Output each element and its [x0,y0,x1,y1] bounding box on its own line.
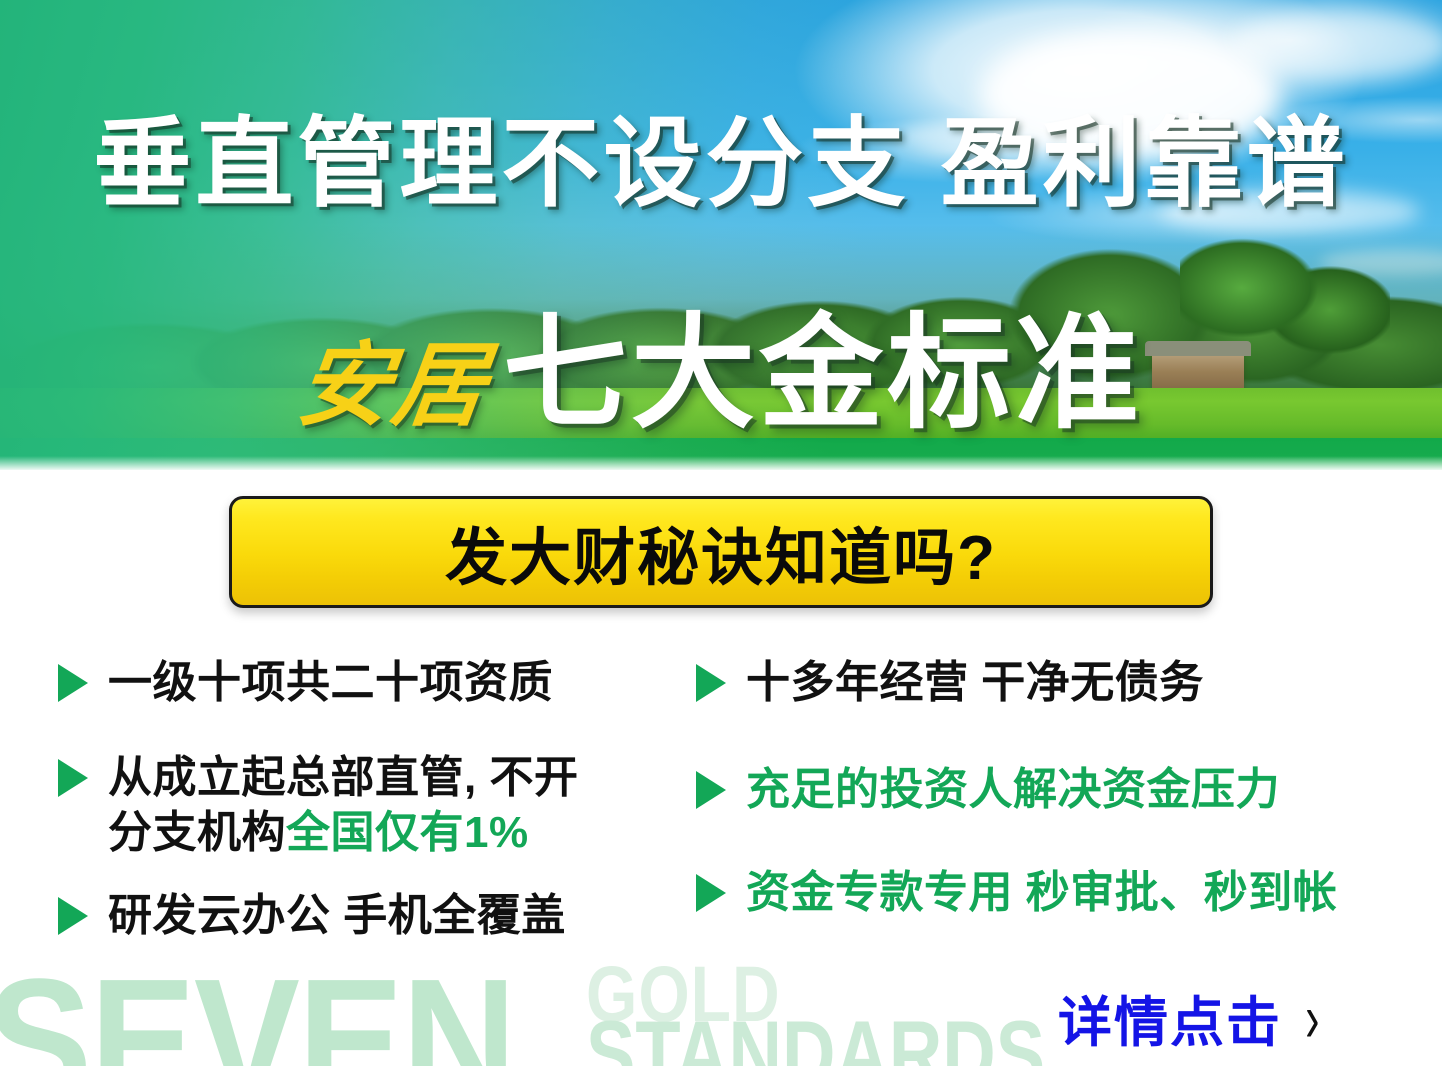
feature-text: 一级十项共二十项资质 [108,655,553,710]
triangle-bullet-icon [58,897,88,935]
feature-text-highlight: 全国仅有1% [286,808,529,857]
feature-text: 十多年经营 干净无债务 [746,655,1204,710]
feature-column-right: 十多年经营 干净无债务 充足的投资人解决资金压力 资金专款专用 秒审批、秒到帐 [696,655,1396,944]
detail-link-label: 详情点击 [1058,978,1282,1057]
feature-text-line2-plain: 分支机构 [108,808,286,857]
feature-list: 一级十项共二十项资质 从成立起总部直管, 不开 分支机构全国仅有1% 研发云办公… [0,655,1442,985]
watermark-standards: STANDARDS [586,1008,1045,1066]
feature-text: 资金专款专用 秒审批、秒到帐 [746,865,1337,920]
headline-secondary: 七大金标准 [503,272,1143,452]
feature-item: 资金专款专用 秒审批、秒到帐 [696,865,1396,920]
feature-column-left: 一级十项共二十项资质 从成立起总部直管, 不开 分支机构全国仅有1% 研发云办公… [58,655,698,967]
headline-secondary-row: 安居 七大金标准 [0,272,1442,452]
feature-text-line1: 从成立起总部直管, 不开 [108,753,578,802]
chevron-right-icon: › [1305,984,1319,1052]
headline-primary: 垂直管理不设分支 盈利靠谱 [0,112,1442,215]
brand-script-text: 安居 [290,311,497,452]
promo-banner-text: 发大财秘诀知道吗? [445,507,997,597]
triangle-bullet-icon [58,759,88,797]
triangle-bullet-icon [58,664,88,702]
feature-item: 一级十项共二十项资质 [58,655,698,710]
feature-item: 从成立起总部直管, 不开 分支机构全国仅有1% [58,750,698,860]
triangle-bullet-icon [696,874,726,912]
detail-link[interactable]: 详情点击 › [1058,978,1321,1057]
hero-image: 垂直管理不设分支 盈利靠谱 安居 七大金标准 [0,0,1442,470]
feature-item: 十多年经营 干净无债务 [696,655,1396,710]
feature-text-multiline: 从成立起总部直管, 不开 分支机构全国仅有1% [108,750,578,860]
feature-item: 研发云办公 手机全覆盖 [58,888,698,943]
triangle-bullet-icon [696,771,726,809]
feature-text: 研发云办公 手机全覆盖 [108,888,566,943]
hero-bottom-fade [0,456,1442,470]
promo-banner[interactable]: 发大财秘诀知道吗? [229,496,1213,608]
advertisement-banner: 垂直管理不设分支 盈利靠谱 安居 七大金标准 SEVEN GOLD STANDA… [0,0,1442,1066]
feature-text: 充足的投资人解决资金压力 [746,762,1280,817]
triangle-bullet-icon [696,664,726,702]
feature-item: 充足的投资人解决资金压力 [696,762,1396,817]
